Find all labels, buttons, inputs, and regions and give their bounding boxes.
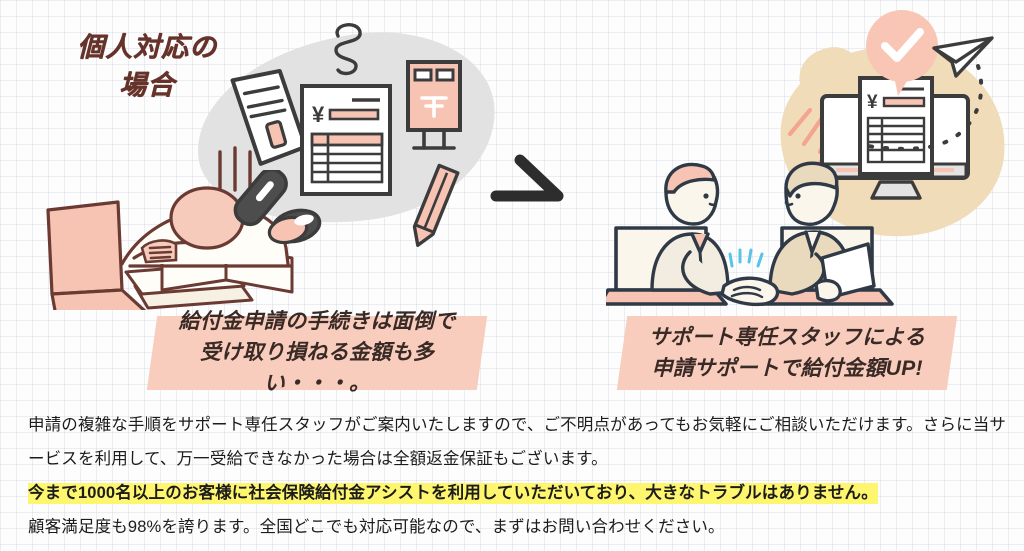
handshake-illustration: [606, 140, 906, 312]
body-copy: 申請の複雑な手順をサポート専任スタッフがご案内いたしますので、ご不明点があっても…: [28, 408, 1010, 545]
caption-left: 給付金申請の手続きは面倒で 受け取り損ねる金額も多い・・・。: [147, 316, 487, 390]
caption-left-text: 給付金申請の手続きは面倒で 受け取り損ねる金額も多い・・・。: [152, 306, 482, 399]
pencil-icon: [392, 160, 472, 260]
caption-right: サポート専任スタッフによる 申請サポートで給付金額UP!: [617, 316, 957, 390]
body-paragraph-1: 申請の複雑な手順をサポート専任スタッフがご案内いたしますので、ご不明点があっても…: [28, 408, 1010, 476]
caption-right-text: サポート専任スタッフによる 申請サポートで給付金額UP!: [649, 322, 925, 384]
highlighted-text: 今まで1000名以上のお客様に社会保険給付金アシストを利用していただいており、大…: [28, 483, 878, 504]
page-root: 個人対応の 場合: [0, 0, 1024, 551]
scribble-spiral-icon: [322, 14, 378, 80]
body-paragraph-2: 顧客満足度も98%を誇ります。全国どこでも対応可能なので、まずはお問い合わせくだ…: [28, 510, 1010, 544]
body-highlight-line: 今まで1000名以上のお客様に社会保険給付金アシストを利用していただいており、大…: [28, 476, 1010, 510]
post-box-icon: [398, 58, 470, 168]
page-headline: 個人対応の 場合: [62, 28, 232, 105]
magnifier-icon: [220, 170, 340, 250]
svg-text:¥: ¥: [312, 102, 325, 127]
chevron-right-icon: [486, 150, 576, 220]
